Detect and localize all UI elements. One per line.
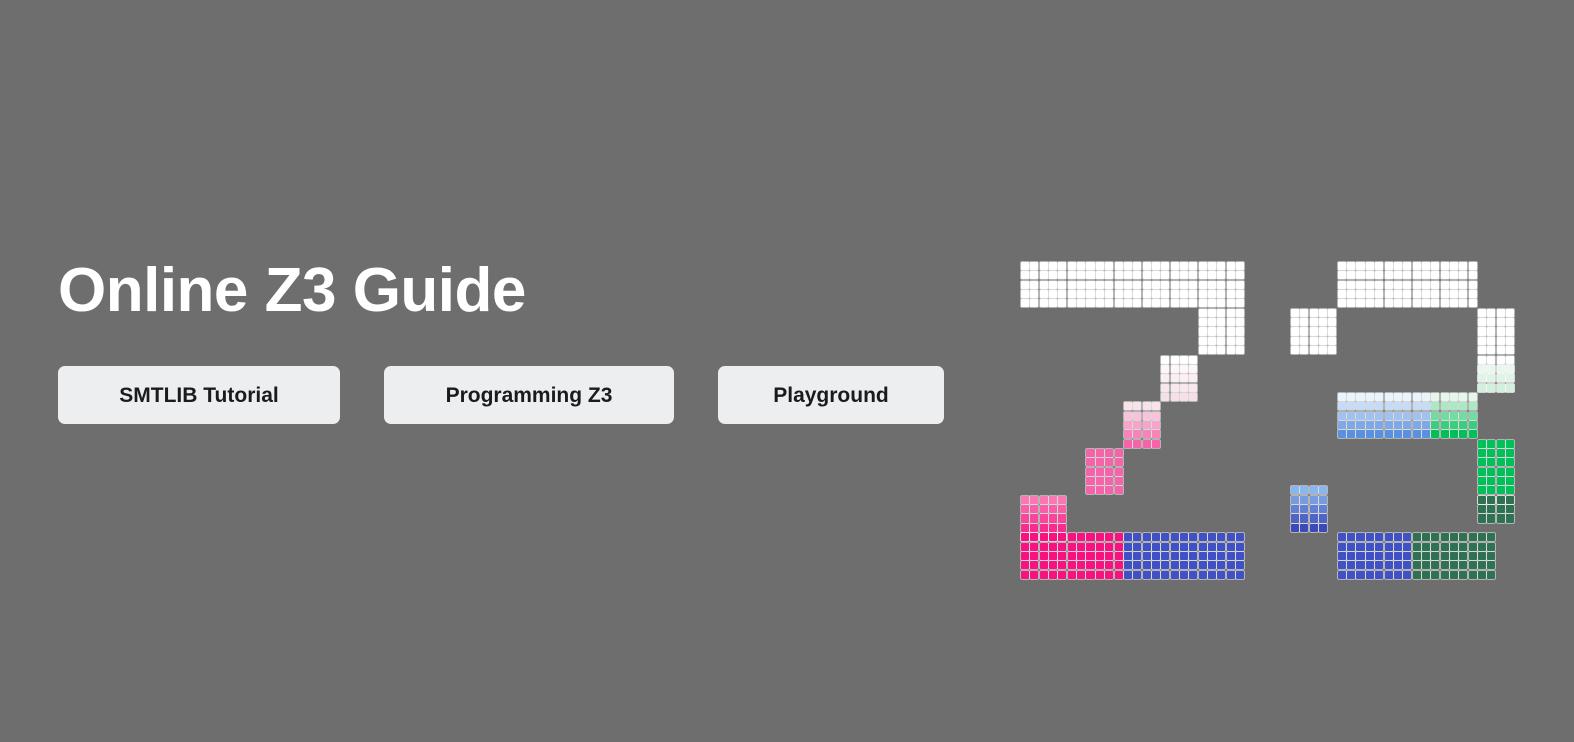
logo-pixel <box>1497 477 1505 485</box>
logo-pixel <box>1328 318 1336 326</box>
logo-pixel <box>1030 290 1038 298</box>
logo-pixel <box>1217 281 1225 289</box>
logo-pixel <box>1478 561 1486 569</box>
logo-pixel <box>1375 271 1383 279</box>
logo-pixel <box>1040 290 1048 298</box>
logo-pixel <box>1021 514 1029 522</box>
logo-pixel <box>1291 486 1299 494</box>
logo-pixel <box>1319 496 1327 504</box>
logo-pixel <box>1171 290 1179 298</box>
logo-pixel <box>1413 561 1421 569</box>
logo-pixel <box>1133 440 1141 448</box>
logo-pixel <box>1478 458 1486 466</box>
logo-pixel <box>1375 571 1383 579</box>
logo-pixel <box>1133 281 1141 289</box>
logo-pixel <box>1366 552 1374 560</box>
logo-pixel <box>1431 393 1439 401</box>
logo-pixel <box>1096 552 1104 560</box>
logo-pixel <box>1366 412 1374 420</box>
logo-pixel <box>1143 271 1151 279</box>
logo-pixel <box>1208 543 1216 551</box>
logo-pixel <box>1469 299 1477 307</box>
logo-pixel <box>1161 262 1169 270</box>
logo-pixel <box>1431 543 1439 551</box>
logo-pixel <box>1030 552 1038 560</box>
logo-pixel <box>1077 543 1085 551</box>
logo-pixel <box>1217 309 1225 317</box>
logo-pixel <box>1394 430 1402 438</box>
logo-pixel <box>1385 281 1393 289</box>
logo-pixel <box>1450 533 1458 541</box>
logo-pixel <box>1441 271 1449 279</box>
logo-pixel <box>1338 561 1346 569</box>
logo-pixel <box>1422 262 1430 270</box>
logo-pixel <box>1152 271 1160 279</box>
logo-pixel <box>1199 299 1207 307</box>
logo-pixel <box>1058 271 1066 279</box>
logo-pixel <box>1021 281 1029 289</box>
logo-pixel <box>1478 309 1486 317</box>
logo-pixel <box>1152 299 1160 307</box>
logo-pixel <box>1143 290 1151 298</box>
logo-pixel <box>1441 552 1449 560</box>
logo-pixel <box>1236 543 1244 551</box>
logo-pixel <box>1450 299 1458 307</box>
logo-pixel <box>1077 533 1085 541</box>
logo-pixel <box>1058 281 1066 289</box>
logo-pixel <box>1152 571 1160 579</box>
logo-pixel <box>1300 505 1308 513</box>
logo-pixel <box>1236 533 1244 541</box>
logo-pixel <box>1189 374 1197 382</box>
logo-pixel <box>1152 543 1160 551</box>
logo-pixel <box>1030 299 1038 307</box>
logo-pixel <box>1180 561 1188 569</box>
logo-pixel <box>1171 384 1179 392</box>
logo-pixel <box>1180 299 1188 307</box>
logo-pixel <box>1459 281 1467 289</box>
logo-pixel <box>1227 327 1235 335</box>
logo-pixel <box>1124 262 1132 270</box>
logo-pixel <box>1403 533 1411 541</box>
smtlib-tutorial-button[interactable]: SMTLIB Tutorial <box>58 366 340 424</box>
logo-pixel <box>1394 561 1402 569</box>
logo-pixel <box>1124 412 1132 420</box>
logo-pixel <box>1291 505 1299 513</box>
logo-pixel <box>1227 290 1235 298</box>
logo-pixel <box>1199 552 1207 560</box>
logo-pixel <box>1469 533 1477 541</box>
logo-pixel <box>1236 318 1244 326</box>
logo-pixel <box>1459 561 1467 569</box>
logo-pixel <box>1487 496 1495 504</box>
logo-pixel <box>1021 571 1029 579</box>
logo-pixel <box>1058 505 1066 513</box>
logo-pixel <box>1058 299 1066 307</box>
logo-pixel <box>1068 552 1076 560</box>
logo-pixel <box>1124 440 1132 448</box>
logo-pixel <box>1068 571 1076 579</box>
logo-pixel <box>1189 281 1197 289</box>
logo-pixel <box>1347 290 1355 298</box>
logo-pixel <box>1422 543 1430 551</box>
logo-pixel <box>1487 309 1495 317</box>
logo-pixel <box>1506 384 1514 392</box>
logo-pixel <box>1180 290 1188 298</box>
logo-pixel <box>1375 262 1383 270</box>
logo-pixel <box>1049 543 1057 551</box>
logo-pixel <box>1319 318 1327 326</box>
logo-pixel <box>1459 430 1467 438</box>
logo-pixel <box>1040 496 1048 504</box>
logo-pixel <box>1497 337 1505 345</box>
logo-pixel <box>1356 421 1364 429</box>
logo-pixel <box>1478 327 1486 335</box>
logo-pixel <box>1068 281 1076 289</box>
logo-pixel <box>1356 533 1364 541</box>
logo-pixel <box>1049 496 1057 504</box>
logo-pixel <box>1366 561 1374 569</box>
logo-pixel <box>1199 571 1207 579</box>
logo-pixel <box>1478 552 1486 560</box>
logo-pixel <box>1133 430 1141 438</box>
logo-pixel <box>1152 533 1160 541</box>
logo-pixel <box>1021 524 1029 532</box>
logo-pixel <box>1441 262 1449 270</box>
logo-pixel <box>1105 477 1113 485</box>
programming-z3-button[interactable]: Programming Z3 <box>384 366 674 424</box>
logo-pixel <box>1375 393 1383 401</box>
logo-pixel <box>1403 262 1411 270</box>
logo-pixel <box>1487 449 1495 457</box>
logo-pixel <box>1385 262 1393 270</box>
logo-pixel <box>1375 421 1383 429</box>
logo-pixel <box>1469 561 1477 569</box>
logo-pixel <box>1441 421 1449 429</box>
logo-pixel <box>1096 458 1104 466</box>
logo-pixel <box>1227 543 1235 551</box>
logo-pixel <box>1347 271 1355 279</box>
logo-pixel <box>1086 561 1094 569</box>
logo-pixel <box>1459 299 1467 307</box>
logo-pixel <box>1058 552 1066 560</box>
logo-pixel <box>1310 309 1318 317</box>
logo-pixel <box>1356 262 1364 270</box>
logo-pixel <box>1143 571 1151 579</box>
logo-pixel <box>1422 402 1430 410</box>
logo-pixel <box>1115 458 1123 466</box>
logo-pixel <box>1161 393 1169 401</box>
logo-pixel <box>1431 402 1439 410</box>
logo-pixel <box>1189 262 1197 270</box>
logo-pixel <box>1199 346 1207 354</box>
logo-pixel <box>1366 393 1374 401</box>
logo-pixel <box>1171 262 1179 270</box>
logo-pixel <box>1413 543 1421 551</box>
logo-pixel <box>1105 571 1113 579</box>
logo-pixel <box>1478 468 1486 476</box>
logo-pixel <box>1356 299 1364 307</box>
logo-pixel <box>1227 309 1235 317</box>
logo-pixel <box>1347 281 1355 289</box>
logo-pixel <box>1208 561 1216 569</box>
logo-pixel <box>1058 262 1066 270</box>
logo-pixel <box>1236 309 1244 317</box>
logo-pixel <box>1487 440 1495 448</box>
logo-pixel <box>1506 458 1514 466</box>
logo-pixel <box>1506 496 1514 504</box>
logo-pixel <box>1459 402 1467 410</box>
logo-pixel <box>1124 290 1132 298</box>
logo-pixel <box>1375 552 1383 560</box>
logo-pixel <box>1096 533 1104 541</box>
logo-pixel <box>1143 543 1151 551</box>
logo-pixel <box>1199 318 1207 326</box>
logo-pixel <box>1506 486 1514 494</box>
logo-pixel <box>1105 468 1113 476</box>
logo-pixel <box>1189 290 1197 298</box>
logo-pixel <box>1040 533 1048 541</box>
logo-pixel <box>1161 552 1169 560</box>
logo-pixel <box>1403 393 1411 401</box>
logo-pixel <box>1441 393 1449 401</box>
logo-pixel <box>1385 299 1393 307</box>
logo-pixel <box>1366 421 1374 429</box>
logo-pixel <box>1497 468 1505 476</box>
logo-pixel <box>1199 327 1207 335</box>
logo-pixel <box>1143 561 1151 569</box>
logo-pixel <box>1385 421 1393 429</box>
logo-pixel <box>1105 262 1113 270</box>
logo-pixel <box>1338 393 1346 401</box>
logo-pixel <box>1021 543 1029 551</box>
logo-pixel <box>1403 281 1411 289</box>
logo-pixel <box>1217 543 1225 551</box>
logo-pixel <box>1375 299 1383 307</box>
logo-pixel <box>1366 533 1374 541</box>
logo-pixel <box>1189 393 1197 401</box>
logo-pixel <box>1403 552 1411 560</box>
logo-pixel <box>1310 318 1318 326</box>
logo-pixel <box>1068 262 1076 270</box>
logo-pixel <box>1506 468 1514 476</box>
logo-pixel <box>1199 262 1207 270</box>
logo-pixel <box>1068 533 1076 541</box>
logo-pixel <box>1394 533 1402 541</box>
logo-pixel <box>1217 262 1225 270</box>
logo-pixel <box>1431 290 1439 298</box>
logo-pixel <box>1199 290 1207 298</box>
logo-pixel <box>1356 561 1364 569</box>
logo-pixel <box>1441 430 1449 438</box>
logo-pixel <box>1086 262 1094 270</box>
logo-pixel <box>1227 281 1235 289</box>
logo-pixel <box>1040 271 1048 279</box>
logo-pixel <box>1356 430 1364 438</box>
logo-pixel <box>1152 421 1160 429</box>
logo-pixel <box>1096 290 1104 298</box>
logo-pixel <box>1040 543 1048 551</box>
logo-pixel <box>1450 571 1458 579</box>
logo-pixel <box>1049 505 1057 513</box>
logo-pixel <box>1096 571 1104 579</box>
logo-pixel <box>1431 281 1439 289</box>
logo-pixel <box>1347 421 1355 429</box>
logo-pixel <box>1478 533 1486 541</box>
logo-pixel <box>1143 533 1151 541</box>
logo-pixel <box>1441 290 1449 298</box>
logo-pixel <box>1413 299 1421 307</box>
logo-pixel <box>1497 318 1505 326</box>
logo-pixel <box>1366 262 1374 270</box>
logo-pixel <box>1375 533 1383 541</box>
logo-pixel <box>1096 543 1104 551</box>
logo-pixel <box>1189 571 1197 579</box>
logo-pixel <box>1310 505 1318 513</box>
logo-pixel <box>1413 271 1421 279</box>
logo-pixel <box>1487 327 1495 335</box>
logo-pixel <box>1049 281 1057 289</box>
logo-pixel <box>1506 318 1514 326</box>
logo-pixel <box>1356 281 1364 289</box>
logo-pixel <box>1077 571 1085 579</box>
logo-pixel <box>1058 571 1066 579</box>
logo-pixel <box>1487 571 1495 579</box>
logo-pixel <box>1086 271 1094 279</box>
logo-pixel <box>1171 552 1179 560</box>
logo-pixel <box>1403 430 1411 438</box>
logo-pixel <box>1208 533 1216 541</box>
logo-pixel <box>1171 271 1179 279</box>
logo-pixel <box>1133 262 1141 270</box>
logo-pixel <box>1152 412 1160 420</box>
logo-pixel <box>1236 571 1244 579</box>
logo-pixel <box>1040 299 1048 307</box>
logo-pixel <box>1441 299 1449 307</box>
logo-pixel <box>1124 533 1132 541</box>
logo-pixel <box>1199 543 1207 551</box>
logo-pixel <box>1124 281 1132 289</box>
logo-pixel <box>1347 571 1355 579</box>
logo-pixel <box>1189 533 1197 541</box>
logo-pixel <box>1161 281 1169 289</box>
logo-pixel <box>1506 477 1514 485</box>
page-title: Online Z3 Guide <box>58 258 958 323</box>
logo-pixel <box>1506 374 1514 382</box>
logo-pixel <box>1487 356 1495 364</box>
logo-pixel <box>1478 374 1486 382</box>
logo-pixel <box>1180 393 1188 401</box>
logo-pixel <box>1161 561 1169 569</box>
logo-pixel <box>1385 533 1393 541</box>
logo-pixel <box>1413 552 1421 560</box>
logo-pixel <box>1478 337 1486 345</box>
logo-pixel <box>1431 533 1439 541</box>
logo-pixel <box>1189 356 1197 364</box>
logo-pixel <box>1217 337 1225 345</box>
logo-pixel <box>1356 552 1364 560</box>
logo-pixel <box>1096 486 1104 494</box>
logo-pixel <box>1124 421 1132 429</box>
logo-pixel <box>1180 281 1188 289</box>
logo-pixel <box>1180 271 1188 279</box>
logo-pixel <box>1189 561 1197 569</box>
logo-pixel <box>1300 346 1308 354</box>
logo-pixel <box>1124 561 1132 569</box>
logo-pixel <box>1133 421 1141 429</box>
logo-pixel <box>1487 318 1495 326</box>
logo-pixel <box>1338 412 1346 420</box>
logo-pixel <box>1478 384 1486 392</box>
logo-pixel <box>1338 299 1346 307</box>
logo-pixel <box>1030 271 1038 279</box>
logo-pixel <box>1171 571 1179 579</box>
logo-pixel <box>1180 571 1188 579</box>
logo-pixel <box>1152 561 1160 569</box>
logo-pixel <box>1413 571 1421 579</box>
logo-pixel <box>1133 552 1141 560</box>
logo-pixel <box>1133 271 1141 279</box>
logo-pixel <box>1497 327 1505 335</box>
logo-pixel <box>1413 262 1421 270</box>
playground-button[interactable]: Playground <box>718 366 944 424</box>
logo-pixel <box>1180 365 1188 373</box>
logo-pixel <box>1441 402 1449 410</box>
logo-pixel <box>1338 290 1346 298</box>
logo-pixel <box>1040 571 1048 579</box>
logo-pixel <box>1403 412 1411 420</box>
logo-pixel <box>1450 271 1458 279</box>
logo-pixel <box>1115 571 1123 579</box>
logo-pixel <box>1300 309 1308 317</box>
logo-pixel <box>1077 552 1085 560</box>
logo-pixel <box>1133 571 1141 579</box>
logo-pixel <box>1459 271 1467 279</box>
logo-pixel <box>1422 533 1430 541</box>
logo-pixel <box>1143 421 1151 429</box>
logo-pixel <box>1385 543 1393 551</box>
logo-pixel <box>1086 290 1094 298</box>
logo-pixel <box>1394 393 1402 401</box>
logo-pixel <box>1068 561 1076 569</box>
logo-pixel <box>1208 337 1216 345</box>
logo-pixel <box>1431 299 1439 307</box>
logo-pixel <box>1124 299 1132 307</box>
logo-pixel <box>1077 299 1085 307</box>
logo-pixel <box>1040 561 1048 569</box>
logo-pixel <box>1086 533 1094 541</box>
logo-pixel <box>1133 299 1141 307</box>
logo-pixel <box>1171 299 1179 307</box>
logo-pixel <box>1030 524 1038 532</box>
logo-pixel <box>1300 514 1308 522</box>
logo-pixel <box>1310 486 1318 494</box>
logo-pixel <box>1021 290 1029 298</box>
logo-pixel <box>1236 327 1244 335</box>
logo-pixel <box>1356 393 1364 401</box>
logo-pixel <box>1133 290 1141 298</box>
logo-pixel <box>1133 533 1141 541</box>
logo-pixel <box>1115 477 1123 485</box>
logo-pixel <box>1450 290 1458 298</box>
logo-pixel <box>1171 365 1179 373</box>
logo-pixel <box>1422 393 1430 401</box>
logo-pixel <box>1068 543 1076 551</box>
logo-pixel <box>1394 552 1402 560</box>
logo-pixel <box>1227 533 1235 541</box>
logo-pixel <box>1422 421 1430 429</box>
logo-pixel <box>1077 561 1085 569</box>
